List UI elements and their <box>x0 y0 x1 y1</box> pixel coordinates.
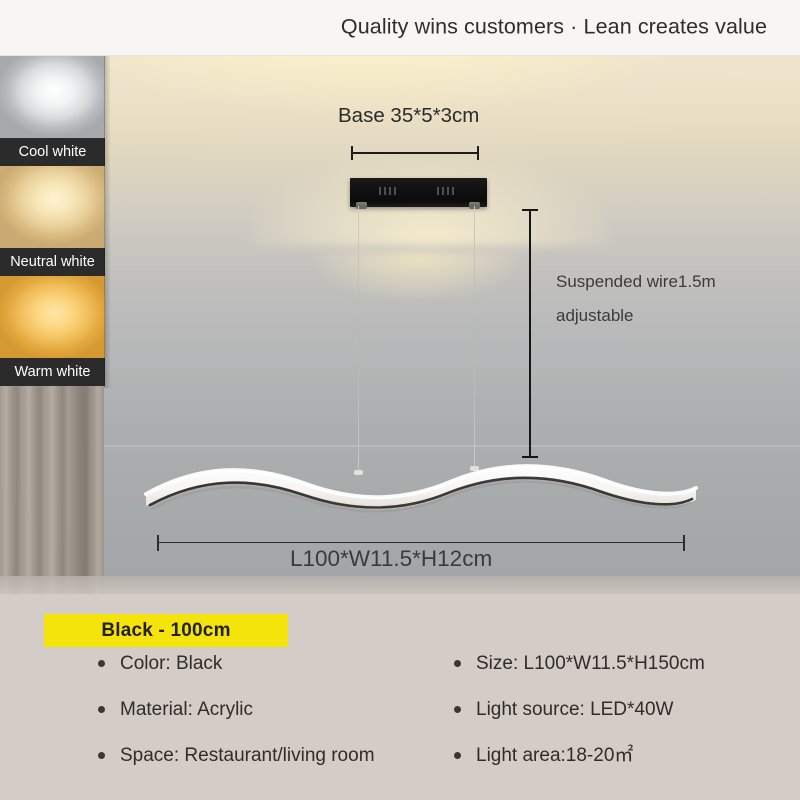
spec-item-light-area: Light area:18-20㎡ <box>452 744 705 790</box>
bullet-icon <box>98 706 105 713</box>
header-band: Quality wins customers · Lean creates va… <box>0 0 800 56</box>
product-detail-image: Quality wins customers · Lean creates va… <box>0 0 800 800</box>
spec-item-size-text: Size: L100*W11.5*H150cm <box>476 653 705 674</box>
swatch-label-cool-white: Cool white <box>0 138 105 166</box>
wire-dimension-label: Suspended wire1.5m adjustable <box>556 265 716 333</box>
spec-item-light-area-text: Light area:18-20㎡ <box>476 745 633 766</box>
swatch-label-warm-white: Warm white <box>0 358 105 386</box>
bracket-tick-right <box>477 146 479 160</box>
bullet-icon <box>98 752 105 759</box>
swatch-cool-white[interactable]: Cool white <box>0 56 105 166</box>
spec-column-left: Color: Black Material: Acrylic Space: Re… <box>96 652 375 790</box>
variant-badge-label: Black - 100cm <box>44 614 288 647</box>
spec-column-right: Size: L100*W11.5*H150cm Light source: LE… <box>452 652 705 790</box>
swatch-warm-white[interactable]: Warm white <box>0 276 105 386</box>
spec-item-color-text: Color: Black <box>120 653 222 674</box>
wavy-lamp-body <box>140 448 700 518</box>
bracket-tick-bottom <box>522 456 538 458</box>
base-dimension-label: Base 35*5*3cm <box>338 104 479 128</box>
spec-item-size: Size: L100*W11.5*H150cm <box>452 652 705 698</box>
swatch-strip-shadow <box>104 56 111 388</box>
bracket-bar <box>351 152 479 154</box>
wire-dimension-bracket <box>522 209 538 458</box>
curtain-shadow-edge <box>72 380 98 594</box>
overall-dimension-label: L100*W11.5*H12cm <box>290 546 492 572</box>
bracket-bar <box>157 542 685 543</box>
bullet-icon <box>454 660 461 667</box>
spec-item-light-source: Light source: LED*40W <box>452 698 705 744</box>
variant-badge: Black - 100cm <box>44 614 288 647</box>
base-vent-left-icon <box>379 187 399 195</box>
wall-seam-lower <box>0 445 800 447</box>
bullet-icon <box>454 706 461 713</box>
base-dimension-bracket <box>351 146 479 160</box>
suspension-wire-right <box>474 206 475 469</box>
wall-seam-upper <box>0 368 800 371</box>
suspension-wire-left <box>358 206 359 472</box>
header-slogan: Quality wins customers · Lean creates va… <box>341 15 767 40</box>
floor-edge <box>0 576 800 594</box>
spec-item-space-text: Space: Restaurant/living room <box>120 745 375 766</box>
bullet-icon <box>98 660 105 667</box>
spec-item-material-text: Material: Acrylic <box>120 699 253 720</box>
swatch-label-neutral-white: Neutral white <box>0 248 105 276</box>
bullet-icon <box>454 752 461 759</box>
base-under-glow <box>318 252 518 298</box>
spec-item-color: Color: Black <box>96 652 375 698</box>
base-vent-right-icon <box>437 187 457 195</box>
wire-dimension-line2: adjustable <box>556 299 716 333</box>
ceiling-base-plate <box>350 178 487 207</box>
color-temperature-swatches: Cool white Neutral white Warm white <box>0 56 105 388</box>
spec-item-space: Space: Restaurant/living room <box>96 744 375 790</box>
bracket-bar-vertical <box>529 209 531 458</box>
spec-item-light-source-text: Light source: LED*40W <box>476 699 674 720</box>
spec-item-material: Material: Acrylic <box>96 698 375 744</box>
swatch-neutral-white[interactable]: Neutral white <box>0 166 105 276</box>
wire-dimension-line1: Suspended wire1.5m <box>556 265 716 299</box>
bracket-tick-right <box>683 535 685 551</box>
